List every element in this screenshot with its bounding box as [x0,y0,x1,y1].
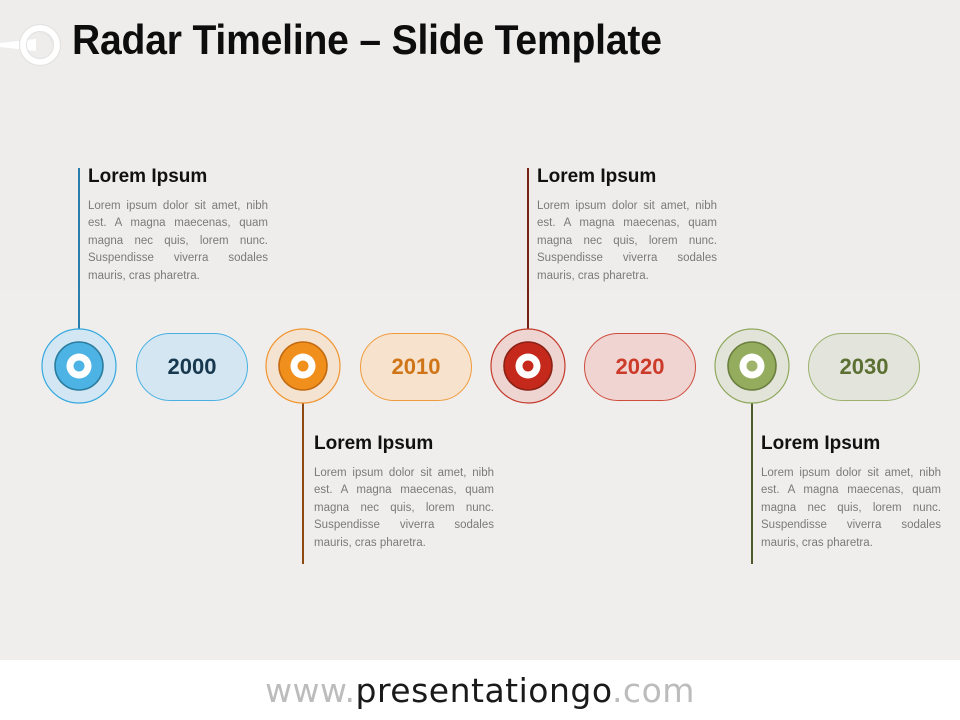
url-suffix: .com [612,671,695,710]
milestone-text-2030: Lorem Ipsum Lorem ipsum dolor sit amet, … [761,434,941,552]
radar-target-icon-2020[interactable] [489,327,567,405]
radar-target-icon-2010[interactable] [264,327,342,405]
radar-target-icon-2000[interactable] [40,327,118,405]
milestone-body: Lorem ipsum dolor sit amet, nibh est. A … [537,198,717,285]
milestone-text-2000: Lorem Ipsum Lorem ipsum dolor sit amet, … [88,167,268,285]
milestone-heading: Lorem Ipsum [761,434,941,455]
footer: www.presentationgo.com [0,660,960,720]
milestone-heading: Lorem Ipsum [88,167,268,188]
year-label: 2000 [168,354,217,380]
year-pill-2010[interactable]: 2010 [360,333,472,401]
year-pill-2030[interactable]: 2030 [808,333,920,401]
milestone-heading: Lorem Ipsum [537,167,717,188]
slide-canvas: Radar Timeline – Slide Template Lorem Ip… [0,0,960,720]
radar-target-icon-2030[interactable] [713,327,791,405]
radar-sweep-icon [0,20,66,70]
milestone-heading: Lorem Ipsum [314,434,494,455]
milestone-text-2020: Lorem Ipsum Lorem ipsum dolor sit amet, … [537,167,717,285]
site-url[interactable]: www.presentationgo.com [265,671,695,710]
year-label: 2010 [392,354,441,380]
slide-background [0,0,960,660]
year-label: 2020 [616,354,665,380]
milestone-body: Lorem ipsum dolor sit amet, nibh est. A … [88,198,268,285]
year-label: 2030 [840,354,889,380]
milestone-body: Lorem ipsum dolor sit amet, nibh est. A … [314,465,494,552]
year-pill-2000[interactable]: 2000 [136,333,248,401]
url-brand: presentationgo [356,671,612,710]
milestone-text-2010: Lorem Ipsum Lorem ipsum dolor sit amet, … [314,434,494,552]
url-prefix: www. [265,671,355,710]
milestone-body: Lorem ipsum dolor sit amet, nibh est. A … [761,465,941,552]
year-pill-2020[interactable]: 2020 [584,333,696,401]
page-title: Radar Timeline – Slide Template [72,16,662,64]
